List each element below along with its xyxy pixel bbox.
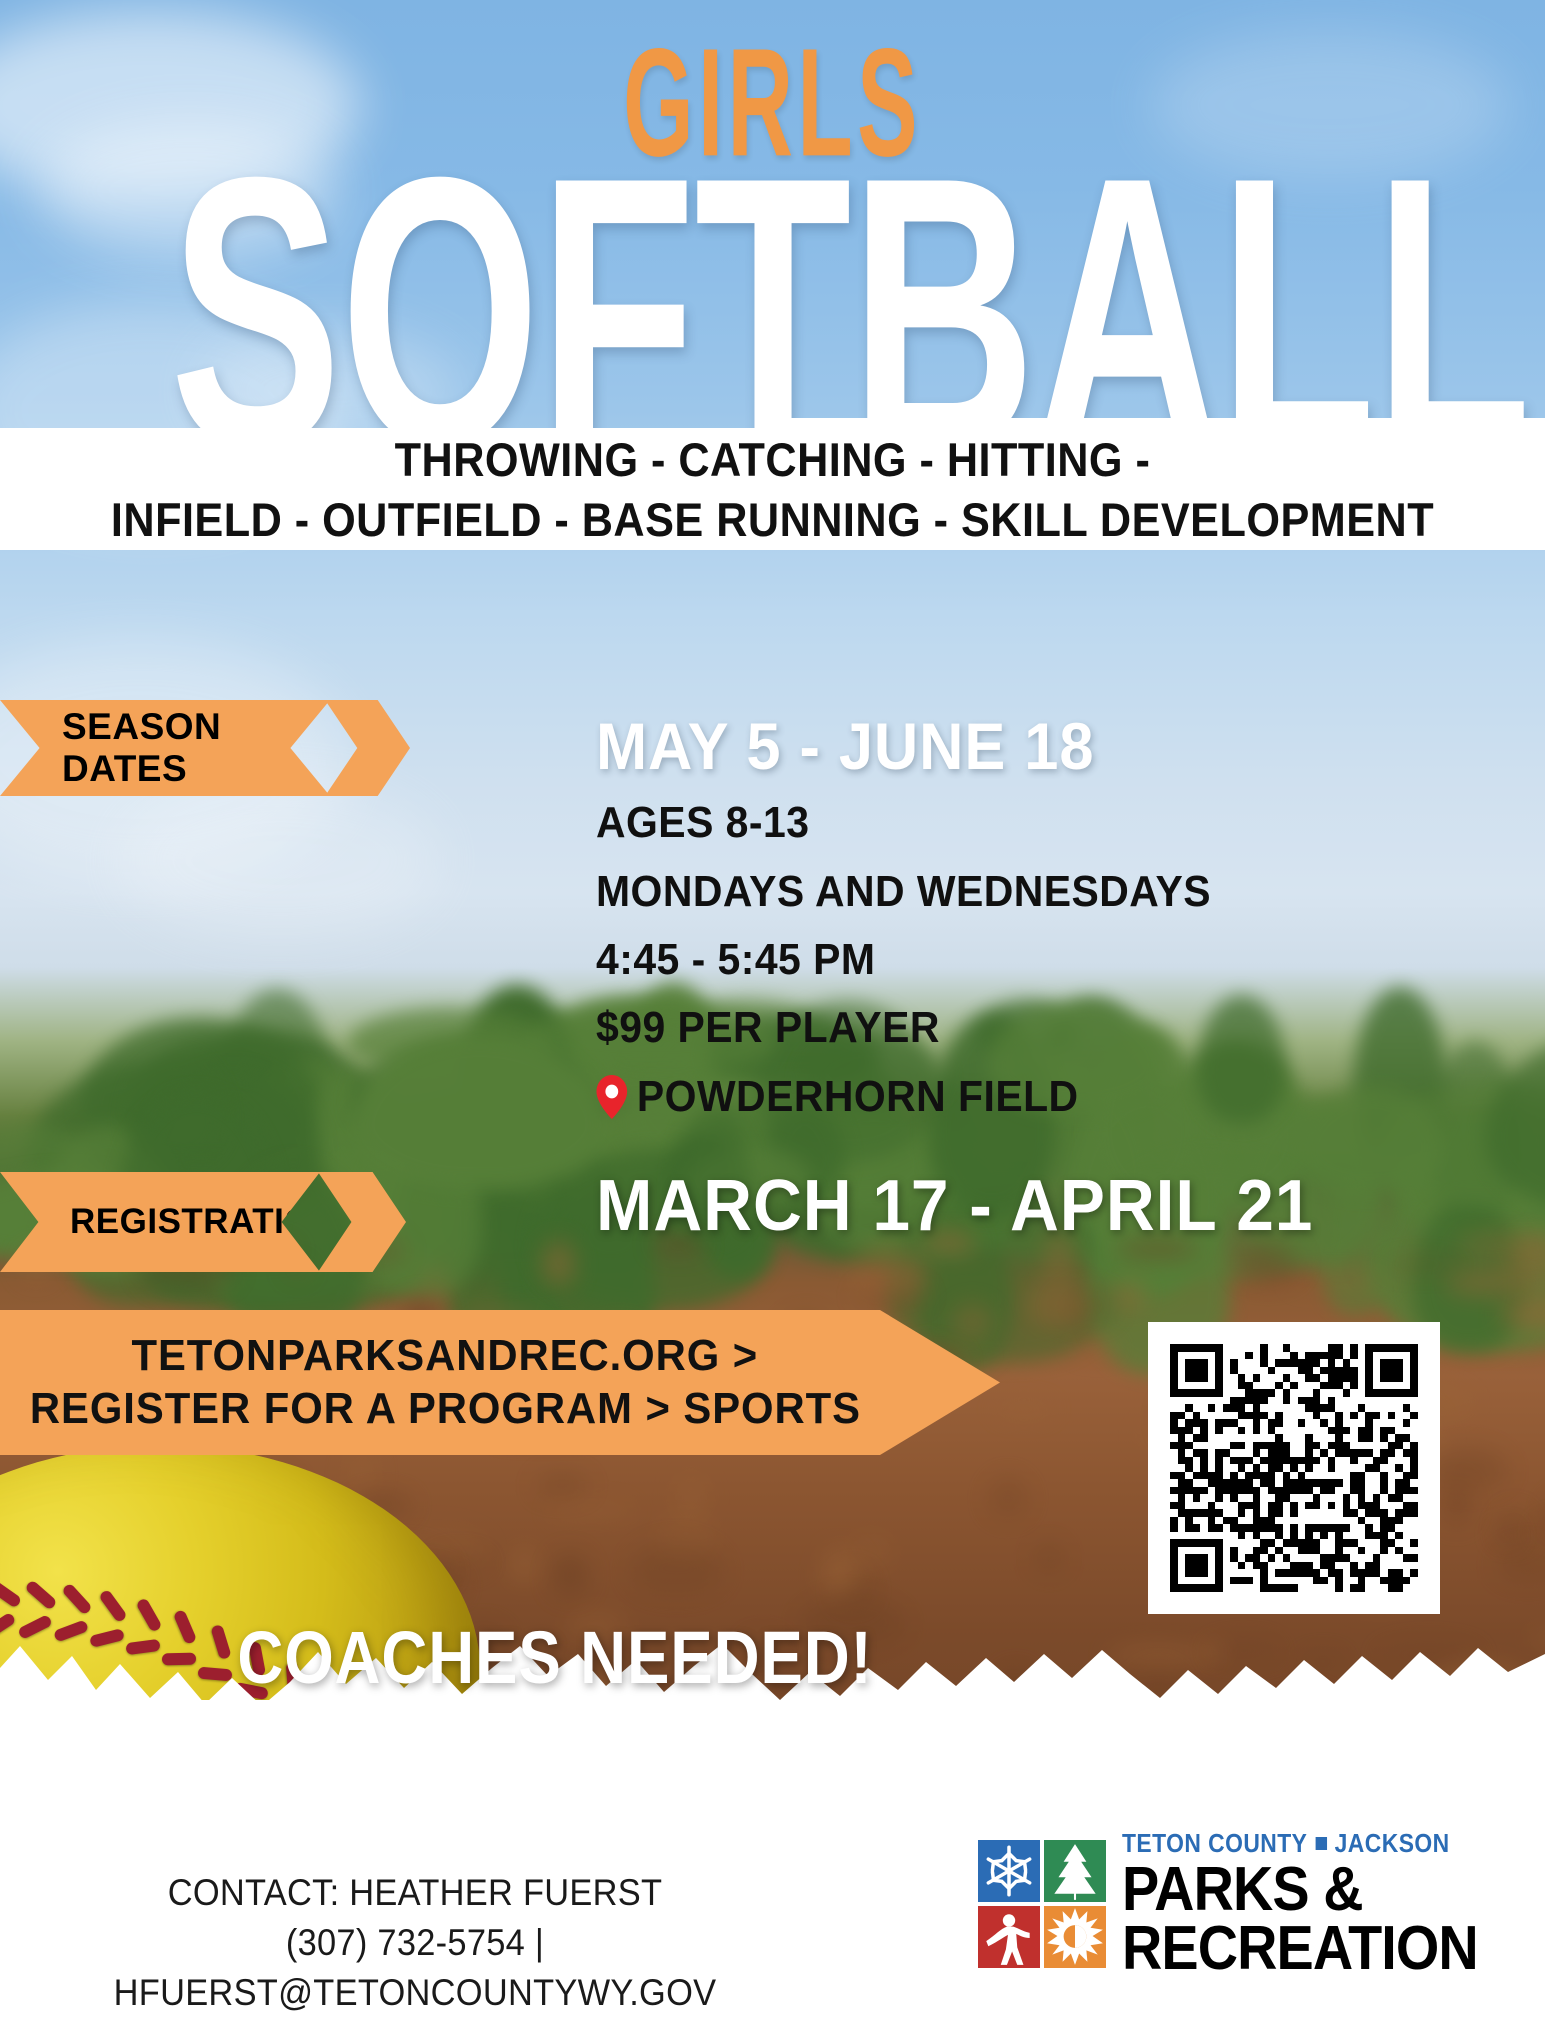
contact-block: CONTACT: HEATHER FUERST (307) 732-5754 |… <box>0 1868 830 2018</box>
subtitle-text: THROWING - CATCHING - HITTING - INFIELD … <box>0 420 1545 550</box>
parks-and-rec-logo: TETON COUNTY JACKSON PARKS & RECREATION <box>978 1830 1517 1979</box>
registration-url-line-2: REGISTER FOR A PROGRAM > SPORTS <box>29 1383 860 1436</box>
season-dates-label: SEASON DATES <box>62 706 330 790</box>
person-icon <box>978 1906 1040 1968</box>
season-time: 4:45 - 5:45 PM <box>596 932 1211 988</box>
season-location-row: POWDERHORN FIELD <box>596 1069 1211 1125</box>
season-ages: AGES 8-13 <box>596 795 1211 851</box>
contact-phone-email: (307) 732-5754 | HFUERST@TETONCOUNTYWY.G… <box>29 1918 801 2018</box>
poster-title: GIRLS SOFTBALL <box>0 0 1545 419</box>
season-dates-value: MAY 5 - JUNE 18 <box>596 712 1211 781</box>
logo-county-line: TETON COUNTY JACKSON <box>1122 1830 1470 1856</box>
softball-seam <box>0 1579 22 1608</box>
qr-code-matrix <box>1170 1344 1418 1592</box>
softball-seam <box>24 1580 57 1611</box>
softball-seam <box>17 1614 53 1640</box>
contact-name: CONTACT: HEATHER FUERST <box>29 1868 801 1918</box>
softball-seam <box>61 1583 93 1616</box>
season-dates-banner: SEASON DATES <box>0 700 330 796</box>
snowflake-icon <box>978 1840 1040 1902</box>
coaches-needed-text: COACHES NEEDED! <box>78 1615 1033 1700</box>
qr-code[interactable] <box>1148 1322 1440 1614</box>
logo-county: TETON COUNTY <box>1122 1830 1307 1856</box>
logo-icon-grid <box>978 1840 1106 1968</box>
season-location-label: POWDERHORN FIELD <box>637 1069 1079 1125</box>
logo-name-line-2: RECREATION <box>1122 1920 1478 1979</box>
title-softball: SOFTBALL <box>170 162 1375 461</box>
season-price: $99 PER PLAYER <box>596 1000 1211 1056</box>
logo-city: JACKSON <box>1335 1830 1450 1856</box>
registration-banner: REGISTRATION <box>0 1172 320 1272</box>
cloud-decor <box>120 780 440 940</box>
logo-wordmark: TETON COUNTY JACKSON PARKS & RECREATION <box>1122 1830 1517 1979</box>
season-details: MAY 5 - JUNE 18 AGES 8-13 MONDAYS AND WE… <box>596 712 1257 1137</box>
map-pin-icon <box>596 1075 628 1119</box>
sun-icon <box>1044 1906 1106 1968</box>
pine-tree-icon <box>1044 1840 1106 1902</box>
registration-url-line-1: TETONPARKSANDREC.ORG > <box>132 1330 759 1383</box>
subtitle-line-2: INFIELD - OUTFIELD - BASE RUNNING - SKIL… <box>62 490 1483 550</box>
registration-url-banner[interactable]: TETONPARKSANDREC.ORG > REGISTER FOR A PR… <box>0 1310 1000 1455</box>
softball-seam <box>0 1611 17 1640</box>
subtitle-line-1: THROWING - CATCHING - HITTING - <box>62 420 1483 490</box>
logo-square-icon <box>1315 1837 1326 1850</box>
logo-name-line-1: PARKS & <box>1122 1861 1478 1920</box>
registration-dates: MARCH 17 - APRIL 21 <box>596 1170 1313 1242</box>
season-days: MONDAYS AND WEDNESDAYS <box>596 864 1211 920</box>
